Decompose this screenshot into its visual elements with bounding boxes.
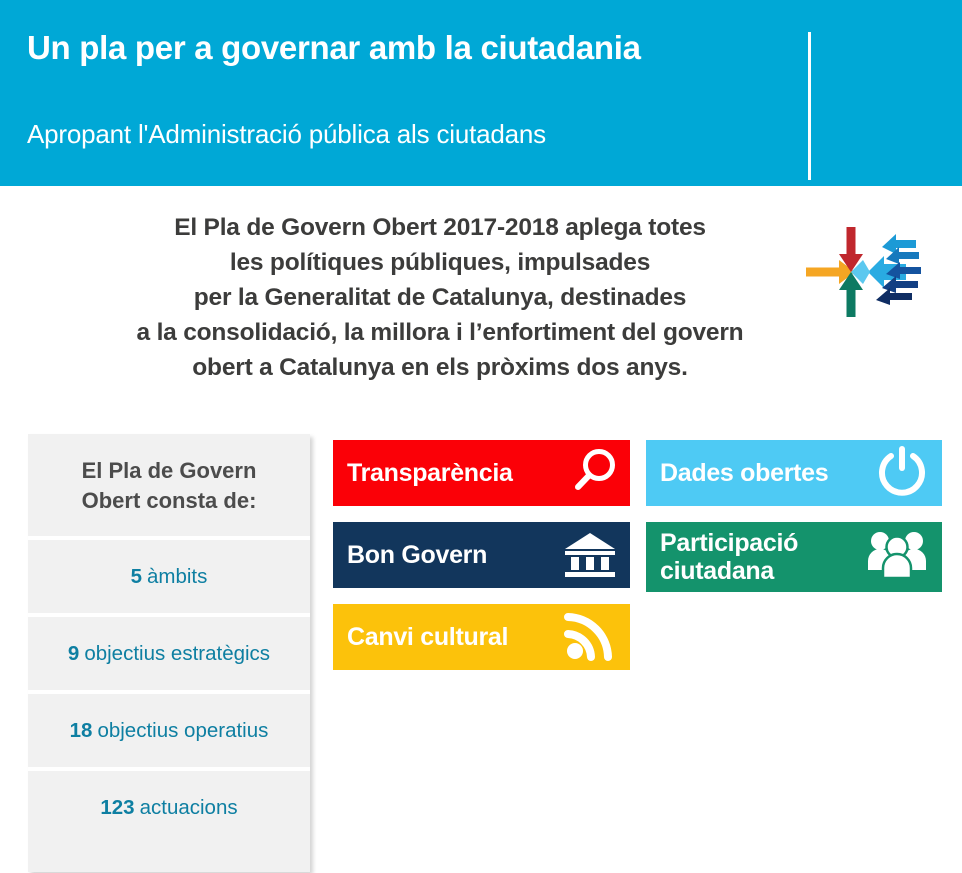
- panel-row-label: actuacions: [140, 796, 238, 820]
- plan-summary-panel: El Pla de Govern Obert consta de: 5 àmbi…: [28, 434, 310, 872]
- panel-row-label: objectius estratègics: [84, 642, 270, 666]
- panel-row-label: objectius operatius: [97, 719, 268, 743]
- card-dades-obertes-label: Dades obertes: [660, 459, 828, 487]
- list-item: 18 objectius operatius: [28, 694, 310, 767]
- power-button-icon: [876, 444, 928, 503]
- card-participacio-ciutadana-label: Participació ciutadana: [660, 529, 798, 585]
- panel-row-number: 123: [100, 796, 134, 820]
- panel-title-line-1: El Pla de Govern: [46, 456, 292, 486]
- card-bon-govern-label: Bon Govern: [347, 541, 487, 569]
- list-item: 5 àmbits: [28, 540, 310, 613]
- page-header: Un pla per a governar amb la ciutadania …: [0, 0, 962, 186]
- people-group-icon: [866, 528, 928, 587]
- card-bon-govern[interactable]: Bon Govern: [333, 522, 630, 588]
- rss-waves-icon: [564, 608, 616, 667]
- intro-paragraph: El Pla de Govern Obert 2017-2018 aplega …: [20, 210, 860, 385]
- intro-line-4: a la consolidació, la millora i l’enfort…: [20, 315, 860, 350]
- card-participacio-line-1: Participació: [660, 529, 798, 557]
- converging-arrows-logo: [806, 222, 926, 322]
- intro-line-3: per la Generalitat de Catalunya, destina…: [20, 280, 860, 315]
- panel-title: El Pla de Govern Obert consta de:: [28, 434, 310, 536]
- card-participacio-ciutadana[interactable]: Participació ciutadana: [646, 522, 942, 592]
- card-canvi-cultural-label: Canvi cultural: [347, 623, 508, 651]
- logo-arrow-right-cluster: [868, 234, 921, 305]
- card-transparencia-label: Transparència: [347, 459, 513, 487]
- card-dades-obertes[interactable]: Dades obertes: [646, 440, 942, 506]
- card-transparencia[interactable]: Transparència: [333, 440, 630, 506]
- page-subtitle: Apropant l'Administració pública als ciu…: [27, 118, 546, 150]
- government-building-icon: [562, 527, 618, 584]
- list-item: 123 actuacions: [28, 771, 310, 844]
- intro-line-1: El Pla de Govern Obert 2017-2018 aplega …: [20, 210, 860, 245]
- panel-row-number: 5: [131, 565, 142, 589]
- panel-row-number: 18: [70, 719, 93, 743]
- panel-row-number: 9: [68, 642, 79, 666]
- header-divider: [808, 32, 811, 180]
- list-item: 9 objectius estratègics: [28, 617, 310, 690]
- card-canvi-cultural[interactable]: Canvi cultural: [333, 604, 630, 670]
- intro-line-2: les polítiques públiques, impulsades: [20, 245, 860, 280]
- panel-title-line-2: Obert consta de:: [46, 486, 292, 516]
- page-title: Un pla per a governar amb la ciutadania: [27, 28, 641, 68]
- magnifier-icon: [568, 445, 620, 502]
- card-participacio-line-2: ciutadana: [660, 557, 798, 585]
- panel-footer-spacer: [28, 844, 310, 872]
- panel-row-label: àmbits: [147, 565, 207, 589]
- intro-line-5: obert a Catalunya en els pròxims dos any…: [20, 350, 860, 385]
